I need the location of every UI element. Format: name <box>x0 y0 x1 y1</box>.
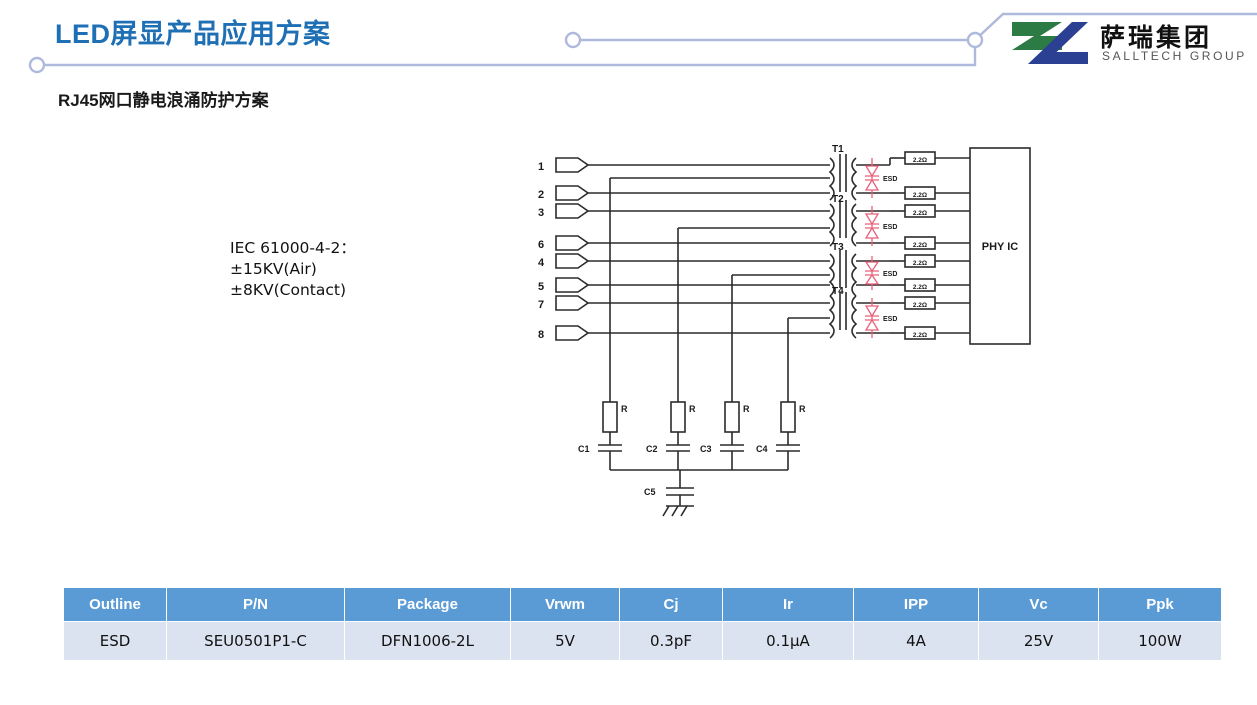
col-header-cj: Cj <box>620 588 723 622</box>
deco-circle-middle <box>566 33 580 47</box>
pin-label-2: 2 <box>538 189 544 201</box>
esd-label-1: ESD <box>883 176 897 183</box>
col-header-ir: Ir <box>723 588 854 622</box>
resistor-value-3: 2.2Ω <box>913 210 927 217</box>
transformer-label-T4: T4 <box>832 286 844 297</box>
deco-circle-left <box>30 58 44 72</box>
resistor-value-6: 2.2Ω <box>913 284 927 291</box>
pin-label-7: 7 <box>538 299 544 311</box>
rj45-esd-schematic: 1 2 3 6 4 5 7 8 T1 T2 T3 T4 ESD ESD ESD … <box>520 140 1040 540</box>
col-header-outline: Outline <box>64 588 167 622</box>
logo-mark-icon <box>1010 20 1090 66</box>
pin-label-6: 6 <box>538 239 544 251</box>
col-header-package: Package <box>345 588 511 622</box>
esd-label-2: ESD <box>883 224 897 231</box>
col-header-vc: Vc <box>979 588 1099 622</box>
bottom-resistor-label-2: R <box>689 404 696 414</box>
spec-table: Outline P/N Package Vrwm Cj Ir IPP Vc Pp… <box>63 587 1222 661</box>
capacitor-label-C5: C5 <box>644 487 656 497</box>
capacitor-label-C2: C2 <box>646 444 658 454</box>
cell-ppk: 100W <box>1099 622 1222 661</box>
cell-package: DFN1006-2L <box>345 622 511 661</box>
rc-network <box>598 402 800 516</box>
pin-label-4: 4 <box>538 257 545 269</box>
bottom-resistor-label-1: R <box>621 404 628 414</box>
esd-tvs-diodes <box>865 158 879 338</box>
resistor-value-7: 2.2Ω <box>913 302 927 309</box>
cell-pn: SEU0501P1-C <box>167 622 345 661</box>
resistor-value-1: 2.2Ω <box>913 157 927 164</box>
esd-diode-2 <box>865 206 879 246</box>
section-title: RJ45网口静电浪涌防护方案 <box>58 86 269 111</box>
transformer-T4 <box>830 292 890 338</box>
col-header-vrwm: Vrwm <box>511 588 620 622</box>
logo-english-name: SALLTECH GROUP <box>1102 49 1247 63</box>
capacitor-label-C3: C3 <box>700 444 712 454</box>
bottom-resistor-label-3: R <box>743 404 750 414</box>
esd-label-3: ESD <box>883 271 897 278</box>
transformer-label-T2: T2 <box>832 194 844 205</box>
transformer-label-T1: T1 <box>832 144 844 155</box>
resistor-value-2: 2.2Ω <box>913 192 927 199</box>
capacitor-label-C4: C4 <box>756 444 768 454</box>
cell-vc: 25V <box>979 622 1099 661</box>
resistor-value-5: 2.2Ω <box>913 260 927 267</box>
phy-ic-label: PHY IC <box>982 241 1019 253</box>
company-logo: 萨瑞集团 SALLTECH GROUP <box>1010 18 1250 70</box>
cell-outline: ESD <box>64 622 167 661</box>
col-header-pn: P/N <box>167 588 345 622</box>
signal-traces <box>588 165 830 425</box>
pin-label-1: 1 <box>538 161 544 173</box>
page-title: LED屏显产品应用方案 <box>55 12 331 51</box>
pin-label-8: 8 <box>538 329 544 341</box>
cell-vrwm: 5V <box>511 622 620 661</box>
col-header-ipp: IPP <box>854 588 979 622</box>
col-header-ppk: Ppk <box>1099 588 1222 622</box>
transformer-label-T3: T3 <box>832 242 844 253</box>
cell-ir: 0.1μA <box>723 622 854 661</box>
table-header-row: Outline P/N Package Vrwm Cj Ir IPP Vc Pp… <box>64 588 1222 622</box>
deco-circle-right <box>968 33 982 47</box>
pin-label-5: 5 <box>538 281 544 293</box>
resistor-value-8: 2.2Ω <box>913 332 927 339</box>
capacitor-label-C1: C1 <box>578 444 590 454</box>
esd-diode-1 <box>865 158 879 198</box>
bottom-resistor-label-4: R <box>799 404 806 414</box>
cell-ipp: 4A <box>854 622 979 661</box>
iec-line-3: ±8KV(Contact) <box>230 281 346 299</box>
esd-diode-4 <box>865 298 879 338</box>
iec-line-2: ±15KV(Air) <box>230 260 317 278</box>
pin-label-3: 3 <box>538 207 544 219</box>
iec-standard-note: IEC 61000-4-2： ±15KV(Air) ±8KV(Contact) <box>230 238 356 301</box>
slide-canvas: LED屏显产品应用方案 RJ45网口静电浪涌防护方案 萨瑞集团 SALLTECH… <box>0 0 1257 705</box>
rj45-pin-connectors <box>556 158 588 340</box>
table-row: ESD SEU0501P1-C DFN1006-2L 5V 0.3pF 0.1μ… <box>64 622 1222 661</box>
cell-cj: 0.3pF <box>620 622 723 661</box>
transformer-T2 <box>830 200 890 246</box>
esd-label-4: ESD <box>883 316 897 323</box>
iec-line-1: IEC 61000-4-2： <box>230 239 356 257</box>
resistor-value-4: 2.2Ω <box>913 242 927 249</box>
